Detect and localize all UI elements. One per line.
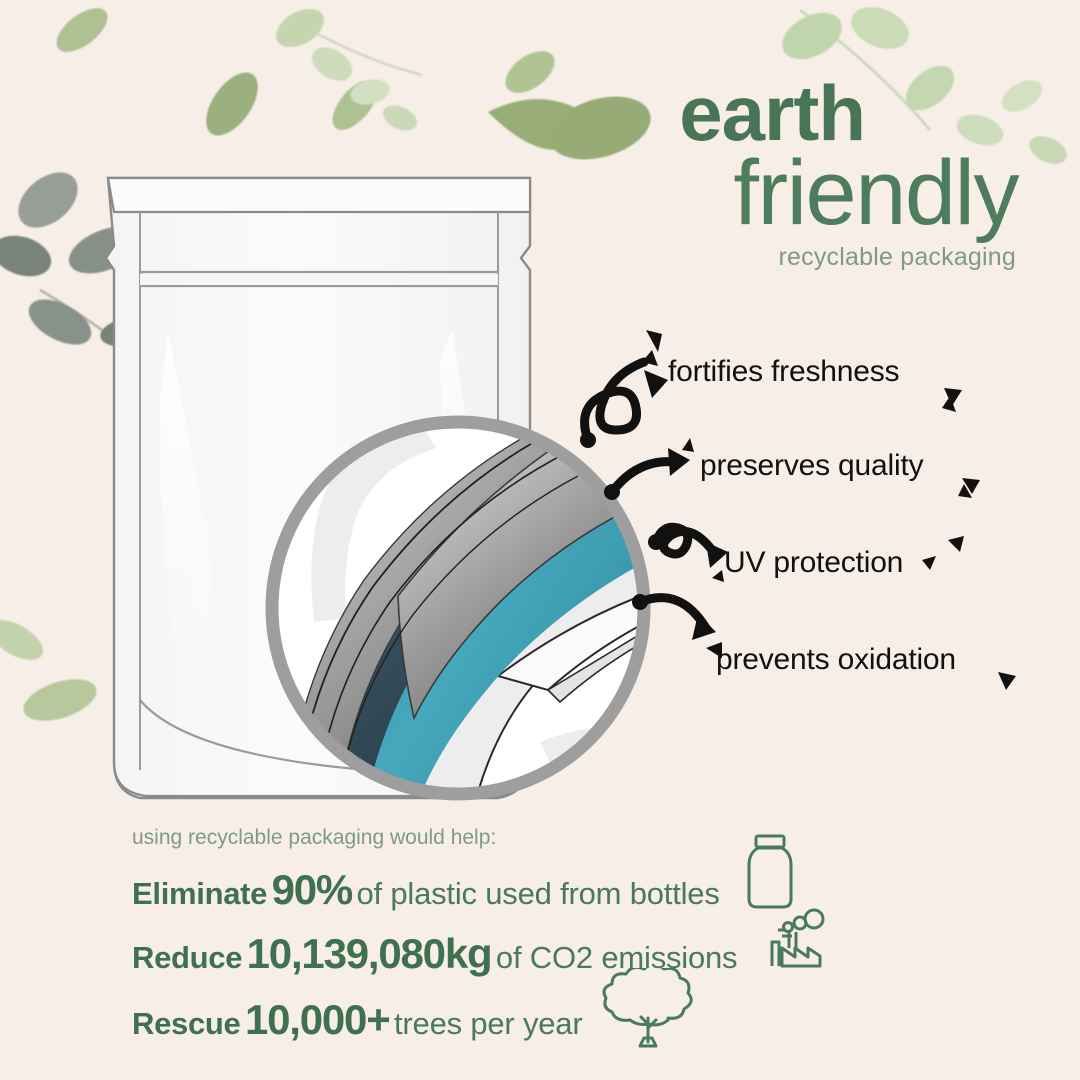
stat-tail: of plastic used from bottles	[357, 876, 720, 911]
stat-verb: Eliminate	[132, 876, 267, 911]
subtitle: recyclable packaging	[620, 243, 1020, 272]
stat-number: 10,000+	[245, 996, 390, 1043]
stat-verb: Rescue	[132, 1006, 241, 1041]
stat-number: 90%	[272, 866, 352, 913]
stat-row-rescue: Rescue 10,000+ trees per year	[132, 996, 582, 1044]
stat-verb: Reduce	[132, 940, 242, 975]
bottle-icon	[742, 833, 798, 911]
infographic-canvas: earth friendly recyclable packaging fort…	[0, 0, 1080, 1080]
feature-label-uv-protection: UV protection	[724, 546, 903, 580]
title-earth: earth	[620, 78, 1020, 150]
stats-intro: using recyclable packaging would help:	[132, 826, 496, 850]
stat-number: 10,139,080kg	[247, 930, 492, 977]
feature-label-preserves-quality: preserves quality	[700, 449, 923, 483]
title-friendly: friendly	[620, 150, 1020, 237]
stat-tail: trees per year	[394, 1006, 582, 1041]
feature-label-prevents-oxidation: prevents oxidation	[716, 643, 956, 677]
tree-icon	[600, 968, 696, 1050]
factory-icon	[768, 906, 834, 968]
feature-label-fortifies-freshness: fortifies freshness	[668, 355, 899, 389]
stat-row-eliminate: Eliminate 90% of plastic used from bottl…	[132, 866, 720, 914]
headline-block: earth friendly recyclable packaging	[620, 78, 1020, 272]
